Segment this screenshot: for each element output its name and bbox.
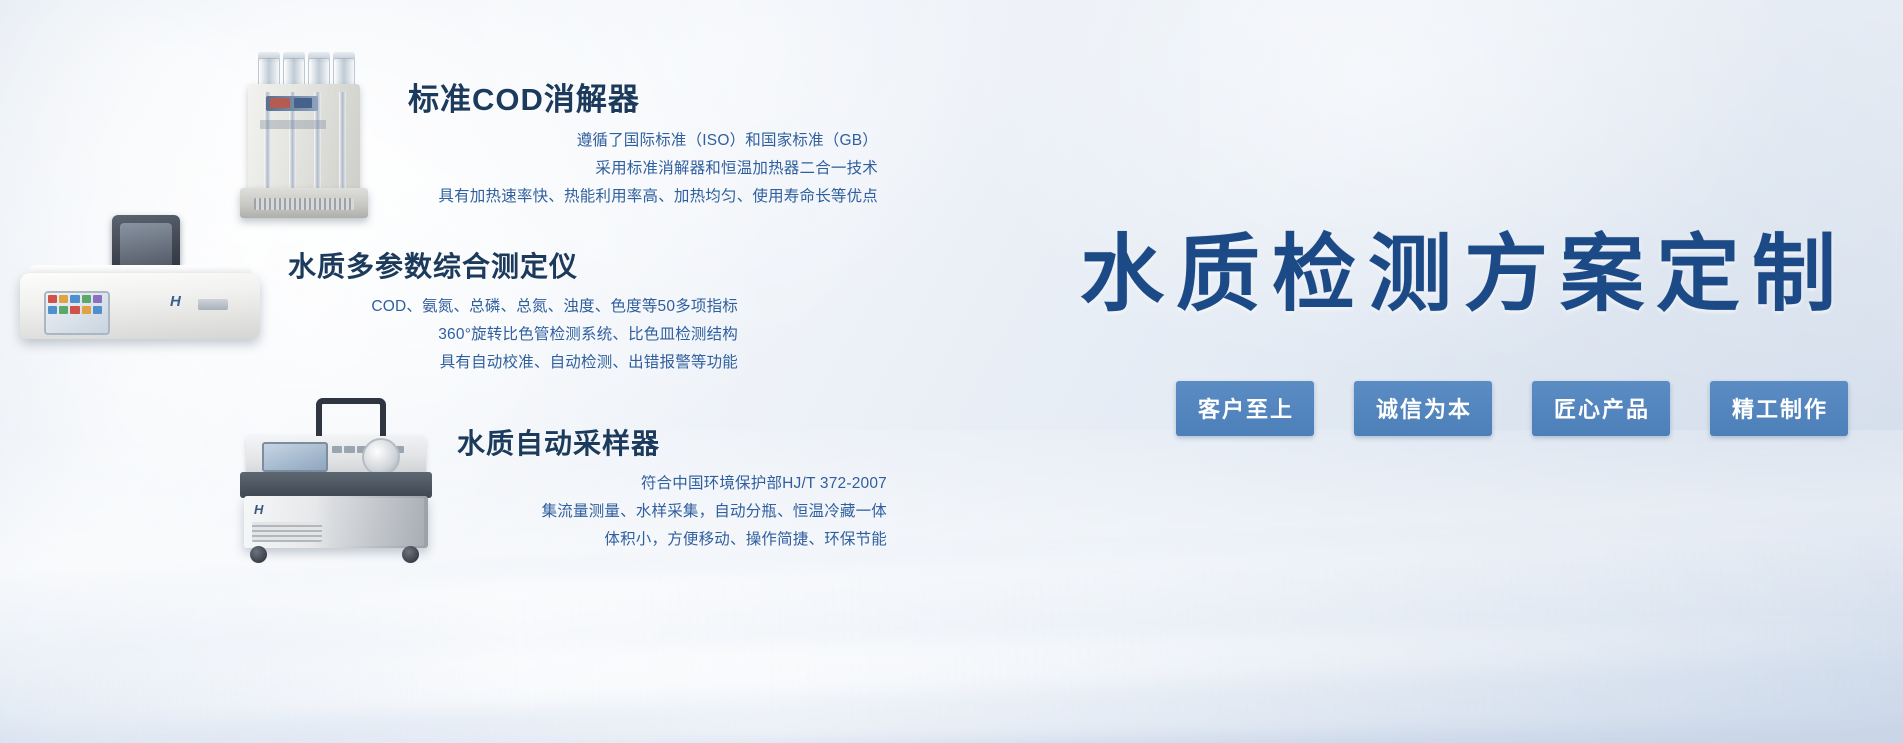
panel-label-strip (260, 120, 326, 129)
analyzer-sample-port (198, 299, 228, 310)
analyzer-keypad (48, 295, 102, 315)
cod-digester-photo (230, 52, 380, 217)
brand-logo: H (254, 502, 263, 517)
product-block-auto-water-sampler: H 水质自动采样器 符合中国环境保护部HJ/T 372-2007 集流量测量、水… (240, 398, 887, 568)
caster-wheel-icon (250, 546, 267, 563)
product-description-line: 具有加热速率快、热能利用率高、加热均匀、使用寿命长等优点 (438, 185, 878, 208)
slogan-badge-group: 客户至上 诚信为本 匠心产品 精工制作 (1176, 381, 1848, 436)
slogan-badge-integrity[interactable]: 诚信为本 (1354, 381, 1492, 436)
product-text-auto-water-sampler: 水质自动采样器 符合中国环境保护部HJ/T 372-2007 集流量测量、水样采… (457, 398, 887, 551)
vent-grill (254, 198, 354, 210)
multi-parameter-analyzer-photo: H (20, 215, 270, 345)
product-description-line: 体积小，方便移动、操作简捷、环保节能 (604, 528, 887, 551)
product-block-multi-parameter-analyzer: H 水质多参数综合测定仪 COD、氨氮、总磷、总氮、浊度、色度等50多项指标 3… (20, 215, 738, 374)
tube-stem (339, 92, 346, 188)
sampler-vent-grill (252, 522, 322, 542)
product-title: 标准COD消解器 (408, 74, 878, 119)
product-text-multi-parameter-analyzer: 水质多参数综合测定仪 COD、氨氮、总磷、总氮、浊度、色度等50多项指标 360… (288, 215, 738, 374)
slogan-badge-precision[interactable]: 精工制作 (1710, 381, 1848, 436)
page-title: 水质检测方案定制 (1080, 232, 1848, 316)
display-readout-red (270, 98, 290, 108)
product-description-line: 遵循了国际标准（ISO）和国家标准（GB） (577, 129, 878, 152)
product-description-line: 具有自动校准、自动检测、出错报警等功能 (440, 351, 738, 374)
caster-wheel-icon (402, 546, 419, 563)
product-description-line: 采用标准消解器和恒温加热器二合一技术 (595, 157, 878, 180)
sampler-control-screen (262, 442, 328, 472)
display-readout-blue (294, 98, 312, 108)
background-glow-right (1200, 0, 1903, 743)
product-title: 水质自动采样器 (457, 422, 887, 462)
product-text-cod-digester: 标准COD消解器 遵循了国际标准（ISO）和国家标准（GB） 采用标准消解器和恒… (408, 52, 878, 208)
product-block-cod-digester: 标准COD消解器 遵循了国际标准（ISO）和国家标准（GB） 采用标准消解器和恒… (230, 52, 878, 217)
background-wave-highlight-2 (0, 619, 1903, 743)
promo-banner: 标准COD消解器 遵循了国际标准（ISO）和国家标准（GB） 采用标准消解器和恒… (0, 0, 1903, 743)
sampler-mid-band (240, 472, 432, 498)
product-description-line: 集流量测量、水样采集，自动分瓶、恒温冷藏一体 (542, 500, 887, 523)
product-description-line: 符合中国环境保护部HJ/T 372-2007 (641, 472, 887, 495)
auto-water-sampler-photo: H (240, 398, 435, 568)
product-title: 水质多参数综合测定仪 (288, 245, 738, 285)
product-description-line: 360°旋转比色管检测系统、比色皿检测结构 (438, 323, 738, 346)
slogan-badge-craftsmanship[interactable]: 匠心产品 (1532, 381, 1670, 436)
slogan-badge-customer-first[interactable]: 客户至上 (1176, 381, 1314, 436)
sampler-door (336, 498, 424, 546)
product-description-line: COD、氨氮、总磷、总氮、浊度、色度等50多项指标 (371, 295, 738, 318)
brand-logo: H (170, 293, 181, 310)
hero-heading: 水质检测方案定制 (1080, 232, 1848, 316)
analyzer-lid-inner (120, 223, 172, 267)
product-description: 遵循了国际标准（ISO）和国家标准（GB） 采用标准消解器和恒温加热器二合一技术… (408, 129, 878, 208)
peristaltic-pump-head (362, 438, 400, 476)
product-description: 符合中国环境保护部HJ/T 372-2007 集流量测量、水样采集，自动分瓶、恒… (457, 472, 887, 551)
product-description: COD、氨氮、总磷、总氮、浊度、色度等50多项指标 360°旋转比色管检测系统、… (288, 295, 738, 374)
